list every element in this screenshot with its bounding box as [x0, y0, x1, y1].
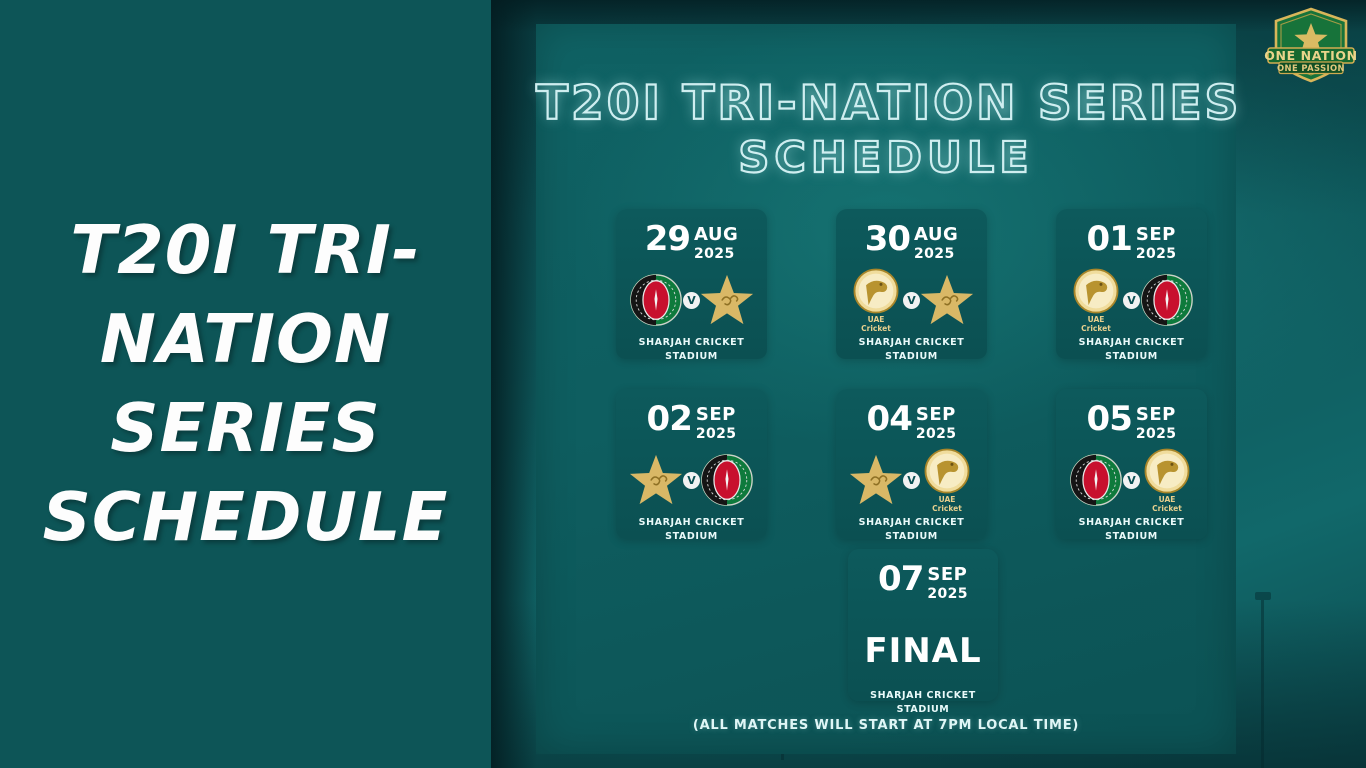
fixture-venue: SHARJAH CRICKETSTADIUM — [836, 516, 987, 544]
fixture-venue-line-1: SHARJAH CRICKET — [616, 516, 767, 530]
left-title-panel: T20I TRI-NATIONSERIESSCHEDULE — [0, 0, 491, 768]
uae-cricket-falcon-logo — [1143, 447, 1191, 495]
fixture-venue-line-2: STADIUM — [1056, 530, 1207, 544]
uae-cricket-caption: UAECricket — [932, 496, 962, 513]
fixture-venue-line-1: SHARJAH CRICKET — [836, 336, 987, 350]
fixture-venue-line-2: STADIUM — [1056, 350, 1207, 364]
fixture-card-match-2[interactable]: 30AUG2025UAECricketVSHARJAH CRICKETSTADI… — [836, 209, 987, 359]
left-title-line-3: SERIES — [31, 384, 461, 473]
one-nation-one-passion-logo: ONE NATION ONE PASSION — [1262, 6, 1360, 84]
fixture-day: 04 — [867, 404, 912, 435]
fixture-month: AUG — [914, 224, 958, 245]
uae-cricket-falcon-logo — [923, 447, 971, 495]
fixture-card-match-5[interactable]: 04SEP2025VUAECricketSHARJAH CRICKETSTADI… — [836, 389, 987, 539]
fixture-venue-line-2: STADIUM — [616, 530, 767, 544]
fixture-date: 01SEP2025 — [1056, 209, 1207, 263]
fixture-card-match-6[interactable]: 05SEP2025VUAECricketSHARJAH CRICKETSTADI… — [1056, 389, 1207, 539]
fixture-year: 2025 — [916, 426, 957, 442]
fixture-year: 2025 — [1136, 246, 1177, 262]
home-team-logo-pakistan — [627, 451, 685, 509]
home-team-logo-afghanistan — [627, 271, 685, 329]
fixture-day: 05 — [1087, 404, 1132, 435]
final-date: 07 SEP 2025 — [848, 549, 998, 603]
fixture-year: 2025 — [696, 426, 737, 442]
fixture-card-match-4[interactable]: 02SEP2025VSHARJAH CRICKETSTADIUM — [616, 389, 767, 539]
fixture-venue-line-1: SHARJAH CRICKET — [836, 516, 987, 530]
fixture-month: SEP — [916, 404, 956, 425]
fixture-day: 01 — [1087, 224, 1132, 255]
star-shield-icon: ONE NATION ONE PASSION — [1262, 6, 1360, 84]
versus-badge: V — [683, 292, 700, 309]
fixture-month: SEP — [1136, 224, 1176, 245]
versus-badge: V — [683, 472, 700, 489]
poster-heading: T20I TRI-NATION SERIES SCHEDULE — [536, 80, 1236, 183]
afghanistan-cricket-board-logo — [699, 452, 755, 508]
versus-badge: V — [1123, 292, 1140, 309]
uae-cricket-falcon-logo — [852, 267, 900, 315]
uae-cricket-falcon-logo — [1072, 267, 1120, 315]
fixture-venue-line-2: STADIUM — [616, 350, 767, 364]
final-venue: SHARJAH CRICKETSTADIUM — [848, 689, 998, 717]
fixture-venue-line-1: SHARJAH CRICKET — [1056, 516, 1207, 530]
fixture-venue: SHARJAH CRICKETSTADIUM — [1056, 336, 1207, 364]
final-year: 2025 — [927, 586, 968, 602]
fixture-venue-line-2: STADIUM — [836, 530, 987, 544]
left-title-text: T20I TRI-NATIONSERIESSCHEDULE — [31, 206, 461, 562]
afghanistan-cricket-board-logo — [1139, 272, 1195, 328]
uae-cricket-caption: UAECricket — [861, 316, 891, 333]
left-title-line-4: SCHEDULE — [31, 473, 461, 562]
final-month: SEP — [927, 564, 967, 585]
final-match-card[interactable]: 07 SEP 2025 FINAL SHARJAH CRICKETSTADIUM — [848, 549, 998, 701]
uae-cricket-caption: UAECricket — [1081, 316, 1111, 333]
away-team-logo-afghanistan — [1138, 271, 1196, 329]
fixture-card-match-1[interactable]: 29AUG2025VSHARJAH CRICKETSTADIUM — [616, 209, 767, 359]
poster-root: T20I TRI-NATIONSERIESSCHEDULE T20I TRI-N… — [0, 0, 1366, 768]
fixture-date: 02SEP2025 — [616, 389, 767, 443]
fixture-venue: SHARJAH CRICKETSTADIUM — [616, 516, 767, 544]
fixture-teams: UAECricketV — [1056, 269, 1207, 331]
fixture-card-match-3[interactable]: 01SEP2025UAECricketVSHARJAH CRICKETSTADI… — [1056, 209, 1207, 359]
versus-badge: V — [1123, 472, 1140, 489]
pakistan-cricket-star-logo — [848, 452, 904, 508]
floodlight-pole-icon — [1261, 600, 1264, 768]
fixture-year: 2025 — [694, 246, 735, 262]
away-team-logo-pakistan — [698, 271, 756, 329]
fixture-day: 02 — [647, 404, 692, 435]
fixture-venue-line-1: SHARJAH CRICKET — [1056, 336, 1207, 350]
fixture-date: 05SEP2025 — [1056, 389, 1207, 443]
fixture-date: 29AUG2025 — [616, 209, 767, 263]
home-team-logo-afghanistan — [1067, 451, 1125, 509]
final-venue-line-1: SHARJAH CRICKET — [848, 689, 998, 703]
final-label: FINAL — [848, 631, 998, 671]
fixture-venue: SHARJAH CRICKETSTADIUM — [836, 336, 987, 364]
uae-cricket-caption: UAECricket — [1152, 496, 1182, 513]
fixture-year: 2025 — [914, 246, 955, 262]
final-day: 07 — [878, 564, 923, 595]
left-title-line-1: T20I TRI- — [31, 206, 461, 295]
versus-badge: V — [903, 472, 920, 489]
fixture-teams: VUAECricket — [1056, 449, 1207, 511]
fixture-venue-line-2: STADIUM — [836, 350, 987, 364]
home-team-logo-uae: UAECricket — [847, 271, 905, 329]
afghanistan-cricket-board-logo — [1068, 452, 1124, 508]
logo-line-1: ONE NATION — [1264, 48, 1357, 63]
footnote-text: (ALL MATCHES WILL START AT 7PM LOCAL TIM… — [536, 718, 1236, 733]
poster-title-line-2: SCHEDULE — [536, 134, 1236, 183]
schedule-poster: T20I TRI-NATION SERIES SCHEDULE 29AUG202… — [536, 24, 1236, 754]
poster-title-line-1: T20I TRI-NATION SERIES — [536, 80, 1236, 128]
home-team-logo-pakistan — [847, 451, 905, 509]
final-venue-line-2: STADIUM — [848, 703, 998, 717]
away-team-logo-pakistan — [918, 271, 976, 329]
fixture-teams: V — [616, 449, 767, 511]
fixture-month: AUG — [694, 224, 738, 245]
fixture-date: 30AUG2025 — [836, 209, 987, 263]
away-team-logo-uae: UAECricket — [918, 451, 976, 509]
away-team-logo-uae: UAECricket — [1138, 451, 1196, 509]
backdrop-left-shadow — [491, 0, 537, 768]
fixture-date: 04SEP2025 — [836, 389, 987, 443]
fixture-venue: SHARJAH CRICKETSTADIUM — [1056, 516, 1207, 544]
fixture-month: SEP — [1136, 404, 1176, 425]
fixture-month: SEP — [696, 404, 736, 425]
floodlight-head-icon — [1255, 592, 1271, 600]
fixture-venue-line-1: SHARJAH CRICKET — [616, 336, 767, 350]
fixture-venue: SHARJAH CRICKETSTADIUM — [616, 336, 767, 364]
fixture-year: 2025 — [1136, 426, 1177, 442]
afghanistan-cricket-board-logo — [628, 272, 684, 328]
logo-line-2: ONE PASSION — [1277, 63, 1345, 73]
versus-badge: V — [903, 292, 920, 309]
fixture-day: 30 — [865, 224, 910, 255]
pakistan-cricket-star-logo — [919, 272, 975, 328]
pakistan-cricket-star-logo — [628, 452, 684, 508]
fixture-teams: V — [616, 269, 767, 331]
home-team-logo-uae: UAECricket — [1067, 271, 1125, 329]
fixture-day: 29 — [645, 224, 690, 255]
away-team-logo-afghanistan — [698, 451, 756, 509]
fixture-teams: VUAECricket — [836, 449, 987, 511]
pakistan-cricket-star-logo — [699, 272, 755, 328]
left-title-line-2: NATION — [31, 295, 461, 384]
fixture-teams: UAECricketV — [836, 269, 987, 331]
